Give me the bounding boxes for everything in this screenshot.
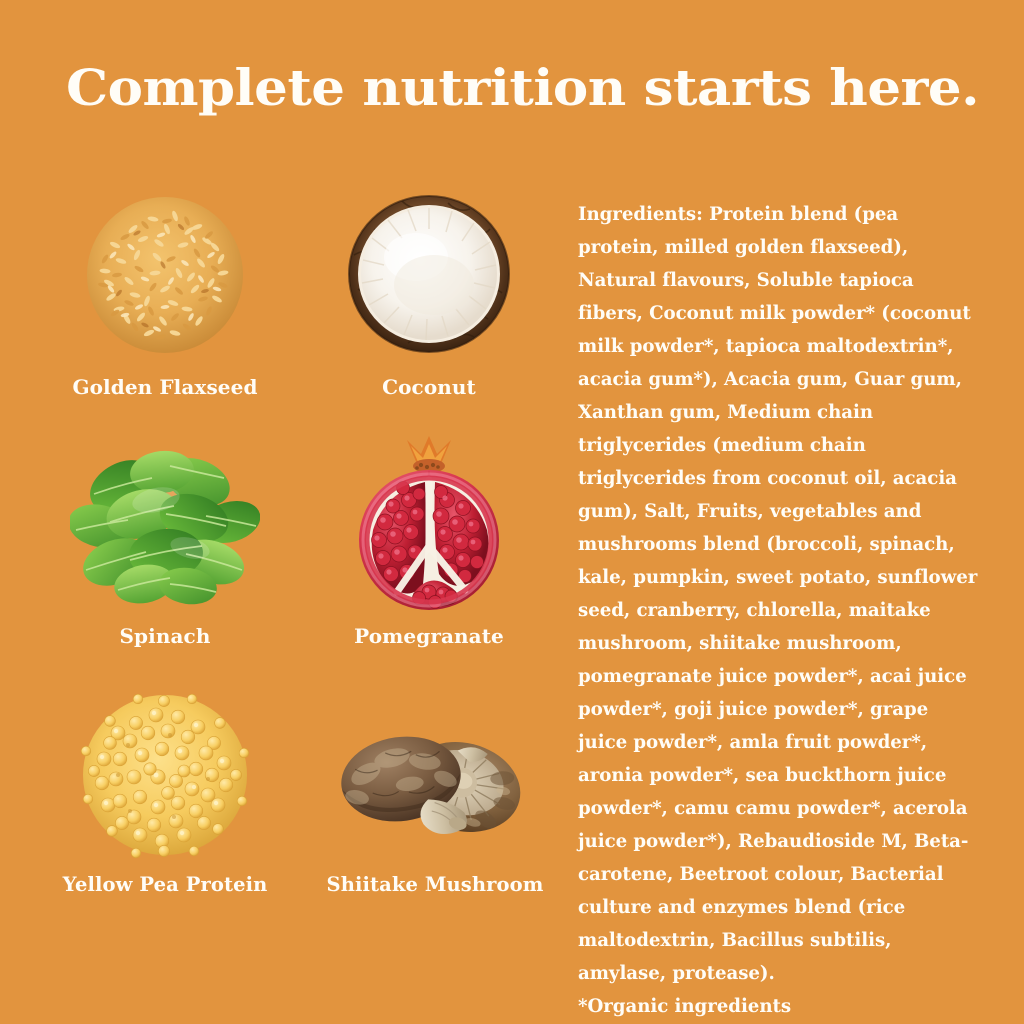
ingredient-card-golden-flaxseed: Golden Flaxseed <box>34 185 296 431</box>
shiitake-mushroom-image <box>294 683 576 868</box>
poster-canvas: Complete nutrition starts here. <box>0 0 1024 1024</box>
yellow-pea-protein-image <box>26 683 304 868</box>
ingredient-label: Shiitake Mushroom <box>294 873 576 896</box>
ingredient-card-coconut: Coconut <box>298 185 560 431</box>
ingredient-label: Coconut <box>298 375 560 399</box>
ingredient-label: Spinach <box>34 624 296 648</box>
organic-footnote: *Organic ingredients <box>578 990 978 1023</box>
ingredient-label: Golden Flaxseed <box>34 375 296 399</box>
ingredient-card-spinach: Spinach <box>34 434 296 680</box>
ingredients-body: Protein blend (pea protein, milled golde… <box>578 204 977 984</box>
ingredient-card-shiitake-mushroom: Shiitake Mushroom <box>294 683 576 929</box>
golden-flaxseed-image <box>34 185 296 370</box>
coconut-image <box>298 185 560 370</box>
ingredient-label: Pomegranate <box>298 624 560 648</box>
ingredients-panel: Ingredients: Protein blend (pea protein,… <box>578 198 978 1023</box>
page-title: Complete nutrition starts here. <box>66 62 1024 115</box>
ingredient-card-yellow-pea-protein: Yellow Pea Protein <box>26 683 304 929</box>
pomegranate-image <box>298 434 560 619</box>
ingredient-gallery: Golden Flaxseed <box>26 185 566 925</box>
ingredient-card-pomegranate: Pomegranate <box>298 434 560 680</box>
ingredients-heading: Ingredients: <box>578 204 703 225</box>
ingredient-label: Yellow Pea Protein <box>26 873 304 896</box>
ingredients-text: Ingredients: Protein blend (pea protein,… <box>578 198 978 990</box>
spinach-image <box>34 434 296 619</box>
